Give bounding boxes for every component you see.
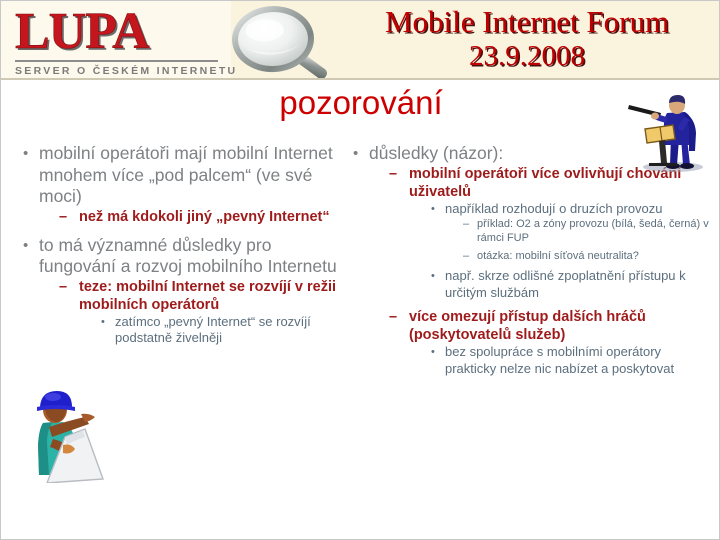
list-item: • např. skrze odlišné zpoplatnění přístu…: [427, 268, 713, 301]
sub-bullet-list: • například rozhodují o druzích provozu …: [409, 201, 713, 302]
sub-bullet-list: • bez spolupráce s mobilními operátory p…: [409, 344, 713, 377]
list-item: • zatímco „pevný Internet“ se rozvíjí po…: [97, 314, 345, 347]
list-item: – otázka: mobilní síťová neutralita?: [461, 249, 713, 263]
sub-bullet-list: – příklad: O2 a zóny provozu (bílá, šedá…: [445, 217, 713, 263]
list-item: – příklad: O2 a zóny provozu (bílá, šedá…: [461, 217, 713, 245]
list-item: – více omezují přístup dalších hráčů (po…: [385, 308, 713, 377]
bullet-marker-level3: •: [431, 268, 435, 285]
sub-bullet-list: – teze: mobilní Internet se rozvíjí v re…: [39, 278, 345, 347]
slide-canvas: LUPA SERVER O ČESKÉM INTERNETU: [0, 0, 720, 540]
bullet-text: bez spolupráce s mobilními operátory pra…: [445, 344, 713, 377]
bullet-marker-level3: •: [431, 201, 435, 218]
event-title-line2: 23.9.2008: [341, 40, 713, 73]
bullet-text: např. skrze odlišné zpoplatnění přístupu…: [445, 268, 713, 301]
lupa-logo-divider: [15, 60, 218, 62]
list-item: • mobilní operátoři mají mobilní Interne…: [15, 143, 345, 226]
list-item: – mobilní operátoři více ovlivňují chová…: [385, 165, 713, 302]
bullet-marker-level3: •: [101, 314, 105, 331]
sub-bullet-list: – než má kdokoli jiný „pevný Internet“: [39, 208, 345, 226]
sub-bullet-list: – mobilní operátoři více ovlivňují chová…: [369, 165, 713, 378]
bullet-marker-level1: •: [23, 143, 28, 165]
construction-worker-with-blueprint-icon: [19, 383, 123, 483]
slide-header-band: LUPA SERVER O ČESKÉM INTERNETU: [1, 1, 720, 80]
bullet-marker-level4: –: [463, 249, 469, 263]
lupa-logo-tagline: SERVER O ČESKÉM INTERNETU: [15, 65, 220, 77]
event-title: Mobile Internet Forum 23.9.2008: [341, 4, 713, 73]
bullet-marker-level1: •: [23, 235, 28, 257]
bullet-text: otázka: mobilní síťová neutralita?: [477, 249, 713, 263]
list-item: – než má kdokoli jiný „pevný Internet“: [55, 208, 345, 226]
list-item: • důsledky (názor): – mobilní operátoři …: [345, 143, 713, 377]
presenter-at-lectern-icon: [621, 93, 715, 173]
bullet-text: než má kdokoli jiný „pevný Internet“: [79, 208, 345, 226]
lupa-logo-wordmark: LUPA: [15, 6, 220, 58]
list-item: • to má významné důsledky pro fungování …: [15, 235, 345, 347]
bullet-marker-level2: –: [389, 308, 397, 326]
slide-title: pozorování: [1, 83, 720, 123]
bullet-text: příklad: O2 a zóny provozu (bílá, šedá, …: [477, 217, 713, 245]
bullet-marker-level3: •: [431, 344, 435, 361]
bullet-marker-level2: –: [59, 208, 67, 226]
magnifying-glass-icon: [223, 3, 343, 80]
bullet-text: zatímco „pevný Internet“ se rozvíjí pods…: [115, 314, 345, 347]
list-item: – teze: mobilní Internet se rozvíjí v re…: [55, 278, 345, 347]
right-bullet-list: • důsledky (názor): – mobilní operátoři …: [345, 143, 713, 377]
bullet-marker-level2: –: [59, 278, 67, 296]
bullet-text: mobilní operátoři mají mobilní Internet …: [39, 143, 345, 208]
bullet-text: teze: mobilní Internet se rozvíjí v reži…: [79, 278, 345, 314]
list-item: • například rozhodují o druzích provozu …: [427, 201, 713, 264]
bullet-marker-level2: –: [389, 165, 397, 183]
sub-bullet-list: • zatímco „pevný Internet“ se rozvíjí po…: [79, 314, 345, 347]
bullet-text: například rozhodují o druzích provozu: [445, 201, 713, 218]
bullet-text: více omezují přístup dalších hráčů (posk…: [409, 308, 713, 344]
bullet-marker-level1: •: [353, 143, 358, 165]
left-bullet-list: • mobilní operátoři mají mobilní Interne…: [15, 143, 345, 347]
left-content-column: • mobilní operátoři mají mobilní Interne…: [15, 143, 345, 356]
right-content-column: • důsledky (názor): – mobilní operátoři …: [345, 143, 713, 386]
event-title-line1: Mobile Internet Forum: [341, 4, 713, 40]
bullet-text: to má významné důsledky pro fungování a …: [39, 235, 345, 278]
bullet-marker-level4: –: [463, 217, 469, 231]
lupa-logo: LUPA SERVER O ČESKÉM INTERNETU: [15, 6, 220, 74]
list-item: • bez spolupráce s mobilními operátory p…: [427, 344, 713, 377]
